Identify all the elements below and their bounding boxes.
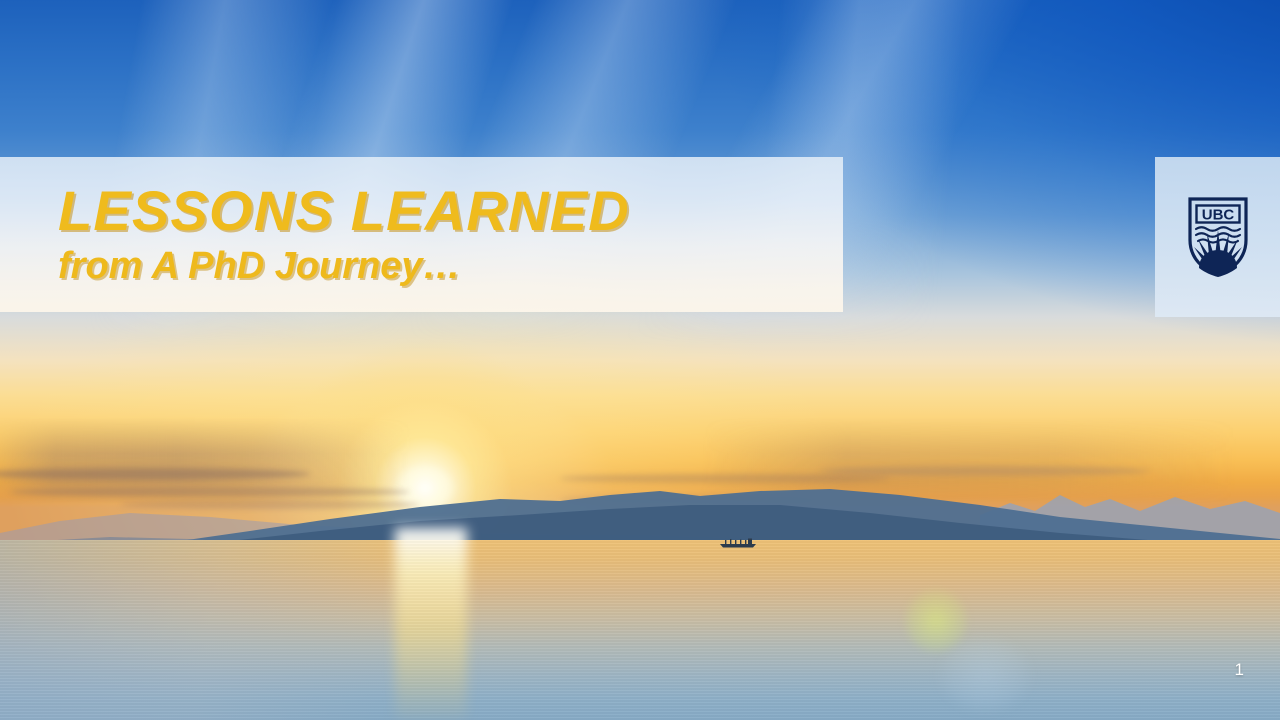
ubc-shield-logo-icon: University of British Columbia shield cr… bbox=[1187, 196, 1249, 278]
presentation-slide: LESSONS LEARNED from A PhD Journey… Univ… bbox=[0, 0, 1280, 720]
ubc-logo-panel: University of British Columbia shield cr… bbox=[1155, 157, 1280, 317]
title-banner: LESSONS LEARNED from A PhD Journey… bbox=[0, 157, 843, 312]
page-number: 1 bbox=[1235, 661, 1244, 678]
water-ripples bbox=[0, 540, 1280, 720]
cargo-ship bbox=[718, 537, 758, 549]
lens-flare-icon bbox=[940, 640, 1030, 710]
background-photo bbox=[0, 0, 1280, 720]
slide-subtitle: from A PhD Journey… bbox=[58, 247, 843, 287]
slide-title: LESSONS LEARNED bbox=[58, 182, 843, 239]
lens-flare-icon bbox=[905, 590, 967, 652]
ubc-wordmark: UBC bbox=[1201, 206, 1234, 223]
